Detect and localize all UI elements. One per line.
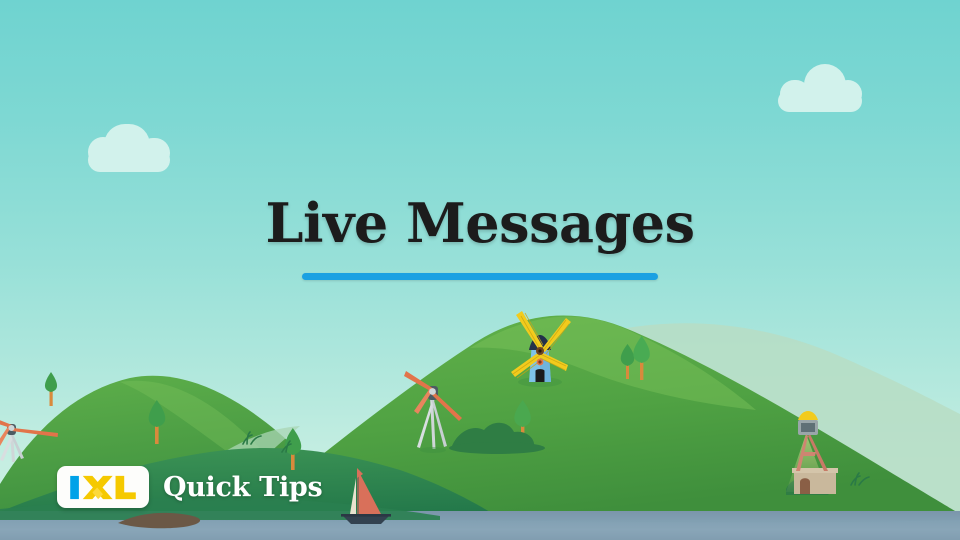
ixl-logo-letters (68, 474, 138, 501)
tree-hill-left-a (45, 372, 57, 406)
logo-letter-i (70, 475, 79, 498)
ixl-logo (57, 466, 149, 508)
title-underline-rule (302, 273, 658, 280)
logo-letter-x (83, 475, 113, 498)
brand-badge-label: Quick Tips (163, 472, 322, 503)
slide-canvas: Live Messages Quick Tips (0, 0, 960, 540)
slide-title-block: Live Messages (0, 196, 960, 280)
logo-letter-l (116, 475, 136, 498)
brand-badge: Quick Tips (57, 466, 322, 508)
page-title: Live Messages (0, 196, 960, 250)
